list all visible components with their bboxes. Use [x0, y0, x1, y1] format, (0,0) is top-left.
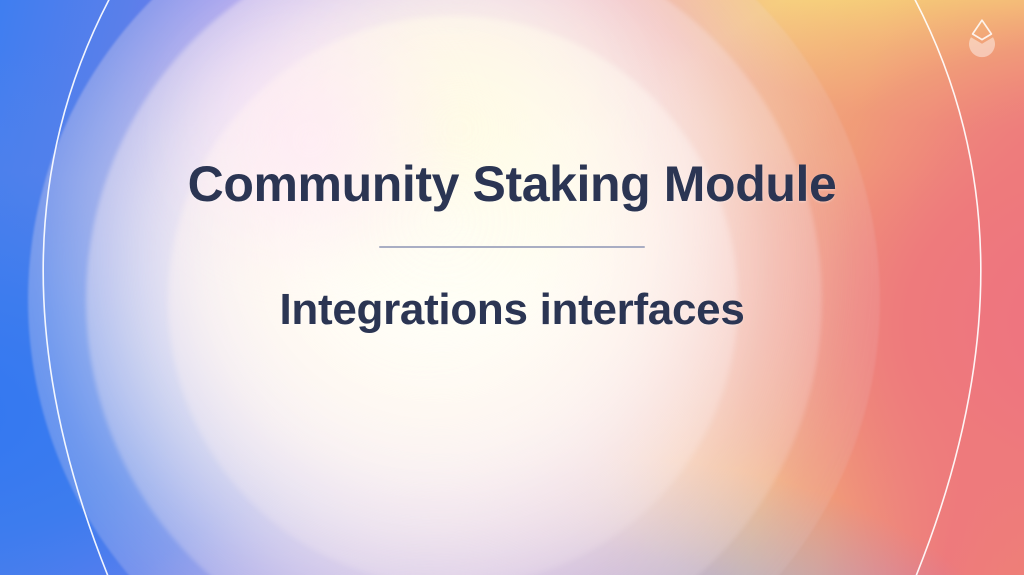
page-title: Community Staking Module	[162, 152, 862, 216]
slide-content: Community Staking Module Integrations in…	[0, 152, 1024, 337]
presentation-slide: Community Staking Module Integrations in…	[0, 0, 1024, 575]
droplet-top-icon	[973, 20, 992, 39]
lido-droplet-logo	[962, 17, 1002, 59]
page-subtitle: Integrations interfaces	[82, 284, 942, 337]
title-subtitle-divider	[379, 246, 645, 248]
